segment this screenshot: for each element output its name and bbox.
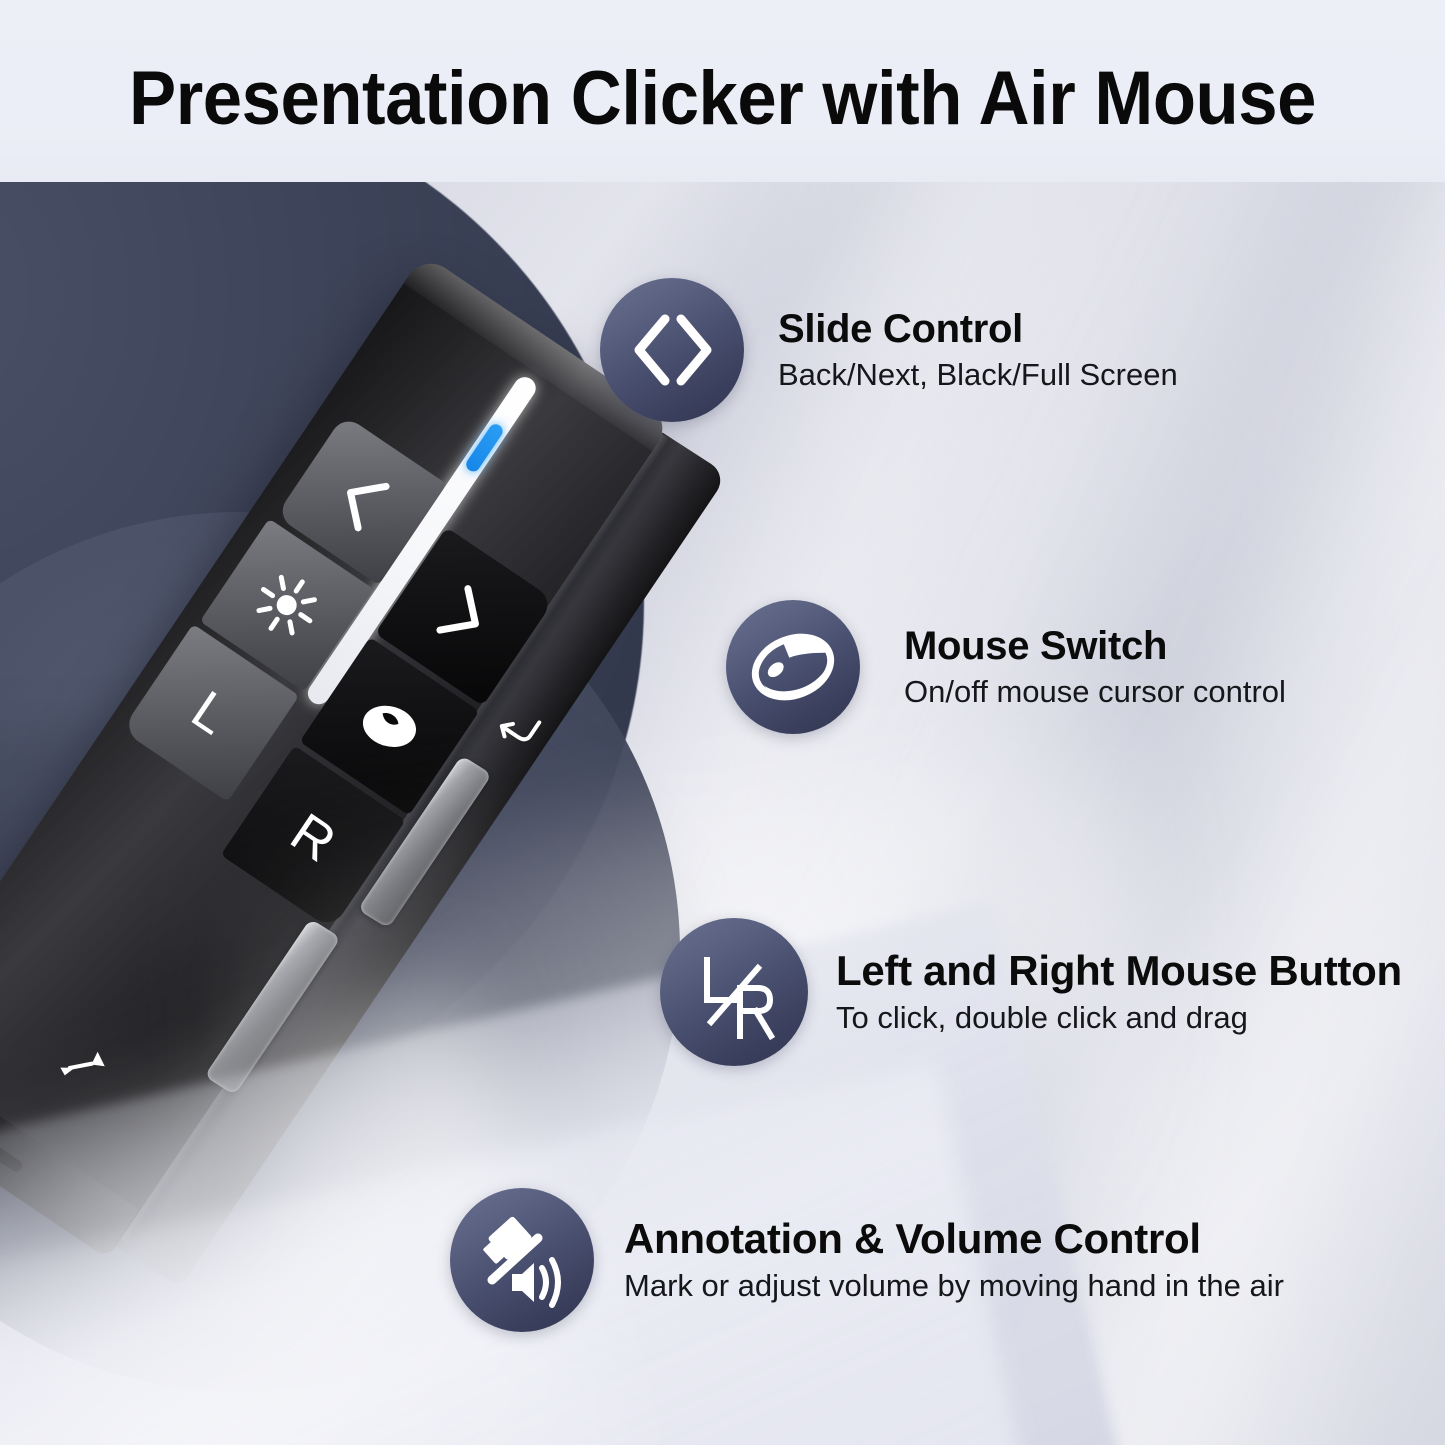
feature-title: Slide Control — [778, 305, 1178, 353]
feature-subtitle: Back/Next, Black/Full Screen — [778, 355, 1178, 395]
feature-subtitle: To click, double click and drag — [836, 998, 1402, 1038]
feature-callout-mouse-switch: Mouse Switch On/off mouse cursor control — [726, 600, 1286, 734]
chevron-left-icon — [320, 457, 402, 542]
feature-text-mouse-switch: Mouse Switch On/off mouse cursor control — [904, 622, 1286, 712]
chevron-right-icon — [424, 574, 506, 659]
chevron-left-right-icon — [600, 278, 744, 422]
feature-text-slide-control: Slide Control Back/Next, Black/Full Scre… — [778, 305, 1178, 395]
feature-callout-left-right-mouse-button: Left and Right Mouse Button To click, do… — [660, 918, 1402, 1066]
letter-l-icon: L — [183, 682, 238, 744]
feature-subtitle: On/off mouse cursor control — [904, 672, 1286, 712]
feature-callout-annotation-volume-control: Annotation & Volume Control Mark or adju… — [450, 1188, 1284, 1332]
feature-title: Left and Right Mouse Button — [836, 946, 1402, 996]
product-infographic: L R — [0, 0, 1445, 1445]
sun-icon — [242, 561, 331, 650]
computer-mouse-icon — [726, 600, 860, 734]
feature-title: Annotation & Volume Control — [624, 1214, 1284, 1264]
feature-title: Mouse Switch — [904, 622, 1286, 670]
highlighter-speaker-icon — [450, 1188, 594, 1332]
l-slash-r-icon — [660, 918, 808, 1066]
computer-mouse-icon — [349, 687, 431, 766]
header-band: Presentation Clicker with Air Mouse — [0, 0, 1445, 182]
feature-subtitle: Mark or adjust volume by moving hand in … — [624, 1266, 1284, 1306]
feature-text-left-right-mouse-button: Left and Right Mouse Button To click, do… — [836, 946, 1402, 1038]
page-title: Presentation Clicker with Air Mouse — [51, 57, 1395, 141]
letter-r-icon: R — [282, 804, 345, 871]
feature-callout-slide-control: Slide Control Back/Next, Black/Full Scre… — [600, 278, 1178, 422]
feature-text-annotation-volume-control: Annotation & Volume Control Mark or adju… — [624, 1214, 1284, 1306]
